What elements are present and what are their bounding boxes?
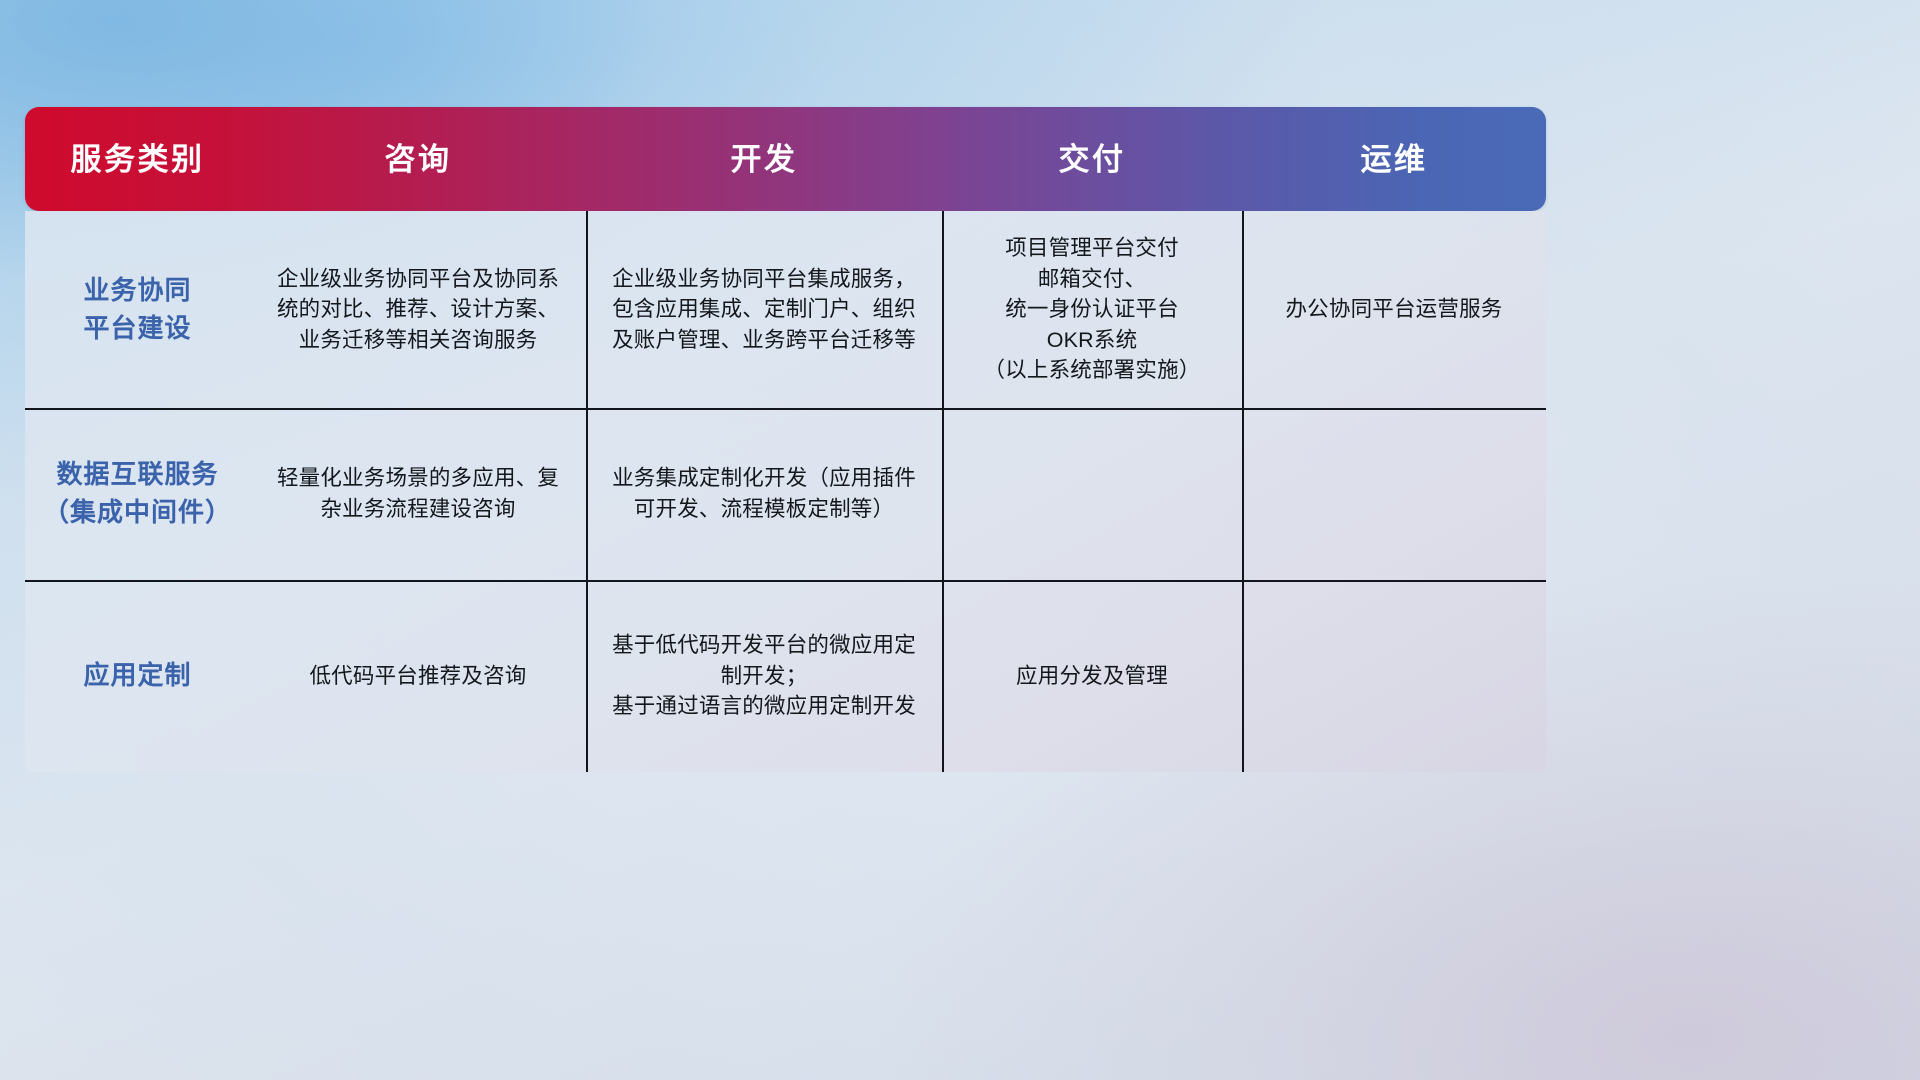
- cell-operations: 办公协同平台运营服务: [1242, 211, 1546, 408]
- cell-text: 低代码平台推荐及咨询: [309, 661, 526, 692]
- row-category-label: 数据互联服务 （集成中间件）: [43, 456, 232, 531]
- service-matrix-table: 服务类别 咨询 开发 交付 运维 业务协同 平台建设 企业级业务协同平台及协同系…: [25, 107, 1546, 772]
- column-header-delivery: 交付: [942, 144, 1242, 175]
- cell-category: 业务协同 平台建设: [25, 211, 250, 408]
- cell-consulting: 企业级业务协同平台及协同系 统的对比、推荐、设计方案、 业务迁移等相关咨询服务: [250, 211, 586, 408]
- cell-development: 业务集成定制化开发（应用插件 可开发、流程模板定制等）: [586, 408, 942, 580]
- cell-text: 基于低代码开发平台的微应用定 制开发； 基于通过语言的微应用定制开发: [612, 630, 916, 722]
- cell-development: 企业级业务协同平台集成服务， 包含应用集成、定制门户、组织 及账户管理、业务跨平…: [586, 211, 942, 408]
- cell-text: 企业级业务协同平台集成服务， 包含应用集成、定制门户、组织 及账户管理、业务跨平…: [612, 264, 916, 356]
- cell-category: 数据互联服务 （集成中间件）: [25, 408, 250, 580]
- cell-delivery: 应用分发及管理: [942, 580, 1242, 772]
- row-category-label: 应用定制: [83, 657, 191, 695]
- table-row: 业务协同 平台建设 企业级业务协同平台及协同系 统的对比、推荐、设计方案、 业务…: [25, 211, 1546, 408]
- column-header-development: 开发: [586, 144, 942, 175]
- table-row: 应用定制 低代码平台推荐及咨询 基于低代码开发平台的微应用定 制开发； 基于通过…: [25, 580, 1546, 772]
- table-body: 业务协同 平台建设 企业级业务协同平台及协同系 统的对比、推荐、设计方案、 业务…: [25, 211, 1546, 772]
- column-header-operations: 运维: [1242, 144, 1546, 175]
- column-header-category: 服务类别: [25, 144, 250, 175]
- cell-delivery: 项目管理平台交付 邮箱交付、 统一身份认证平台 OKR系统 （以上系统部署实施）: [942, 211, 1242, 408]
- cell-text: 轻量化业务场景的多应用、复 杂业务流程建设咨询: [277, 463, 559, 524]
- cell-delivery: [942, 408, 1242, 580]
- cell-text: 应用分发及管理: [1016, 661, 1168, 692]
- table-header-row: 服务类别 咨询 开发 交付 运维: [25, 107, 1546, 211]
- row-category-label: 业务协同 平台建设: [83, 272, 191, 347]
- cell-text: 业务集成定制化开发（应用插件 可开发、流程模板定制等）: [612, 463, 916, 524]
- cell-consulting: 低代码平台推荐及咨询: [250, 580, 586, 772]
- cell-operations: [1242, 580, 1546, 772]
- cell-category: 应用定制: [25, 580, 250, 772]
- cell-text: 项目管理平台交付 邮箱交付、 统一身份认证平台 OKR系统 （以上系统部署实施）: [983, 233, 1200, 386]
- cell-operations: [1242, 408, 1546, 580]
- cell-text: 企业级业务协同平台及协同系 统的对比、推荐、设计方案、 业务迁移等相关咨询服务: [277, 264, 559, 356]
- cell-text: 办公协同平台运营服务: [1285, 294, 1502, 325]
- cell-development: 基于低代码开发平台的微应用定 制开发； 基于通过语言的微应用定制开发: [586, 580, 942, 772]
- column-header-consulting: 咨询: [250, 144, 586, 175]
- cell-consulting: 轻量化业务场景的多应用、复 杂业务流程建设咨询: [250, 408, 586, 580]
- table-row: 数据互联服务 （集成中间件） 轻量化业务场景的多应用、复 杂业务流程建设咨询 业…: [25, 408, 1546, 580]
